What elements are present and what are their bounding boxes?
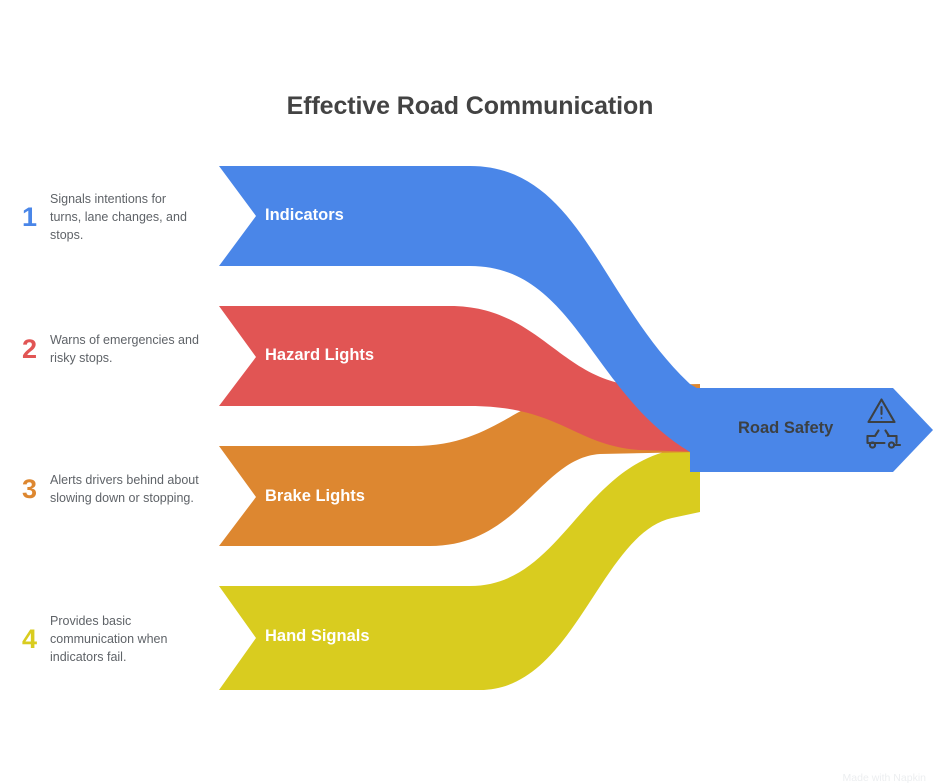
legend-number-2: 2 [22,336,50,363]
legend-item-3: 3 Alerts drivers behind about slowing do… [22,471,222,507]
legend-item-2: 2 Warns of emergencies and risky stops. [22,331,222,367]
endpoint-label-road-safety: Road Safety [738,419,833,438]
legend-number-3: 3 [22,476,50,503]
legend-number-1: 1 [22,204,50,231]
legend-description-1: Signals intentions for turns, lane chang… [50,190,200,244]
legend-description-4: Provides basic communication when indica… [50,612,200,666]
infographic-canvas: Effective Road Communication [0,0,940,780]
legend-number-4: 4 [22,626,50,653]
legend-description-2: Warns of emergencies and risky stops. [50,331,200,367]
watermark: Made with Napkin [843,772,926,784]
legend-item-4: 4 Provides basic communication when indi… [22,612,222,666]
legend-item-1: 1 Signals intentions for turns, lane cha… [22,190,222,244]
legend-description-3: Alerts drivers behind about slowing down… [50,471,200,507]
